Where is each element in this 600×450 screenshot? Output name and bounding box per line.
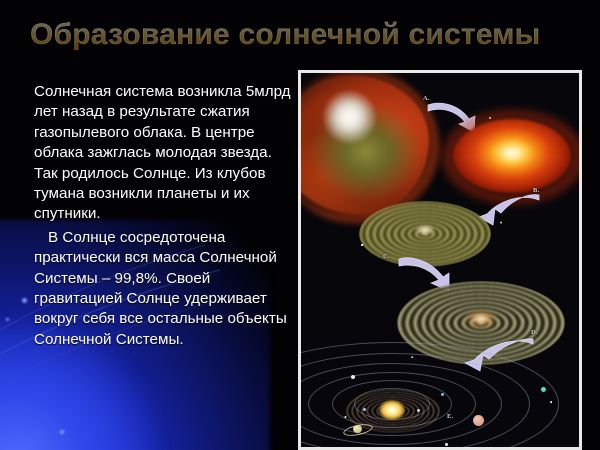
starfield-background: A. B. C. D. [301, 73, 579, 447]
saturn-icon [343, 423, 371, 435]
protostar-disc-icon [453, 119, 571, 193]
paragraph-2: В Солнце сосредоточена практически вся м… [34, 228, 292, 350]
planet-icon [473, 415, 484, 426]
background-dot [60, 430, 64, 434]
solar-system-icon [301, 359, 579, 449]
background-dot [22, 298, 27, 303]
illustration-frame: A. B. C. D. [298, 70, 582, 450]
stage-label-e: E. [447, 413, 454, 420]
planet-icon [351, 375, 355, 379]
slide-title: Образование солнечной системы [30, 18, 578, 52]
sun-icon [379, 400, 405, 420]
presentation-slide: Образование солнечной системы Солнечная … [0, 0, 600, 450]
planet-icon [441, 393, 444, 396]
stage-label-c: C. [383, 253, 390, 260]
slide-body-text: Солнечная система возникла 5млрд лет наз… [34, 82, 292, 350]
planet-icon [417, 409, 420, 412]
saturn-body [353, 425, 362, 433]
planet-icon [541, 387, 546, 392]
background-dot [6, 318, 9, 321]
paragraph-1: Солнечная система возникла 5млрд лет наз… [34, 82, 292, 225]
planet-icon [445, 443, 448, 446]
planet-icon [363, 408, 366, 411]
